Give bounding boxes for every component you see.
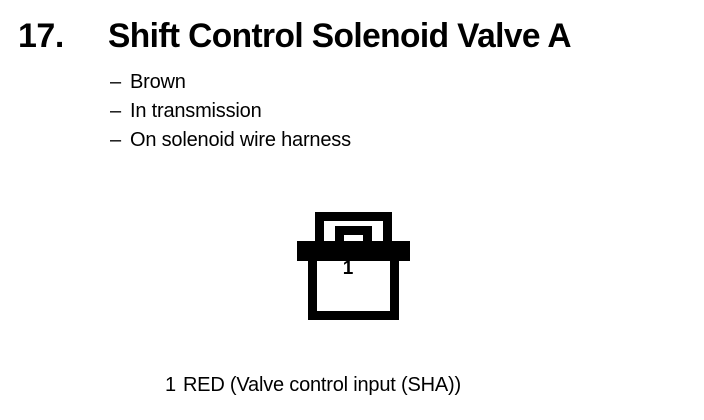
page-title: 17. Shift Control Solenoid Valve A (0, 14, 704, 60)
list-item-label: In transmission (130, 100, 262, 122)
connector-body-right-joint (390, 252, 399, 264)
connector-flange-right-shoulder (399, 241, 410, 261)
item-number: 17. (18, 14, 64, 58)
title-text: Shift Control Solenoid Valve A (108, 14, 571, 58)
list-item: –On solenoid wire harness (110, 126, 630, 155)
list-item-label: Brown (130, 71, 186, 93)
pin-caption-number: 1 (165, 372, 176, 398)
list-item: –In transmission (110, 97, 630, 126)
connector-flange-left-shoulder (297, 241, 308, 261)
detail-list: –Brown –In transmission –On solenoid wir… (110, 68, 630, 155)
pin-caption-description: RED (Valve control input (SHA)) (183, 374, 461, 396)
pin-caption: 1RED (Valve control input (SHA)) (165, 372, 461, 398)
bullet-dash-icon: – (110, 97, 130, 126)
connector-flange-bar (297, 241, 410, 252)
list-item-label: On solenoid wire harness (130, 129, 351, 151)
bullet-dash-icon: – (110, 126, 130, 155)
connector-pin-number: 1 (336, 258, 360, 280)
connector-diagram: 1 (290, 200, 422, 328)
connector-body-left-joint (308, 252, 317, 264)
list-item: –Brown (110, 68, 630, 97)
manual-page: 17. Shift Control Solenoid Valve A –Brow… (0, 0, 704, 420)
bullet-dash-icon: – (110, 68, 130, 97)
